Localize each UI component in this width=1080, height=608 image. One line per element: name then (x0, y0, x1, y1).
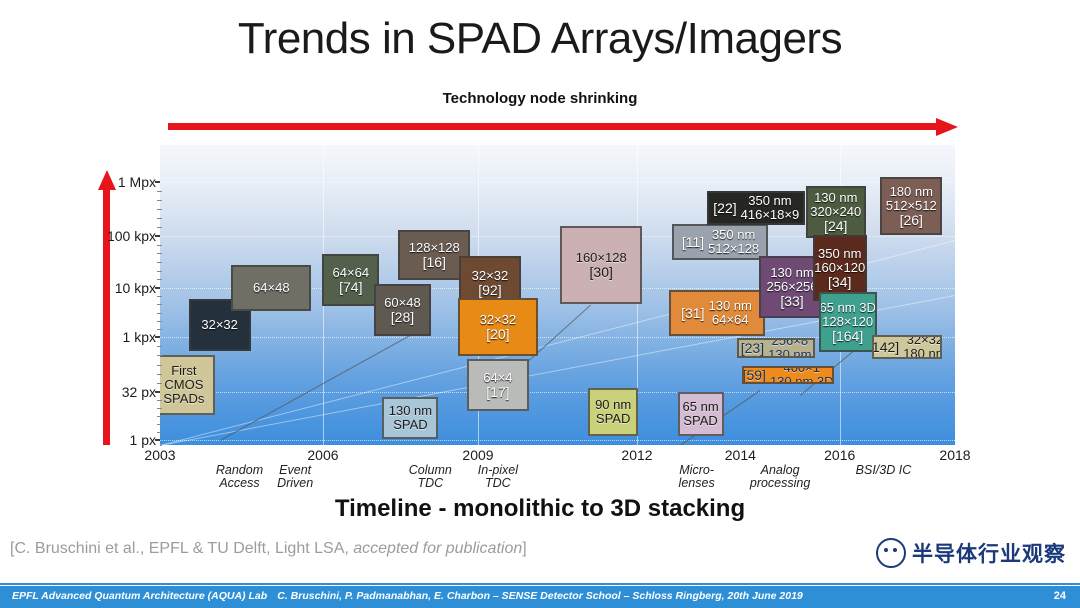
y-tick-minor (157, 321, 162, 322)
chip-label: [30] (590, 265, 613, 279)
chip-reference: [22] (713, 201, 736, 215)
chip-labels: 400×1130 nm 3D (770, 366, 834, 384)
x-annotation-1: EventDriven (277, 464, 313, 490)
chip-label: SPAD (596, 412, 630, 426)
y-tick-label-5: 1 px (130, 432, 156, 448)
chip-chip-11-350nm: [11]350 nm512×128 (672, 224, 768, 260)
x-tick-label-2006: 2006 (307, 447, 338, 463)
y-tick-minor (157, 408, 162, 409)
y-tick-minor (157, 253, 162, 254)
y-tick-minor (157, 374, 162, 375)
y-tick-minor (157, 279, 162, 280)
x-tick-label-2018: 2018 (939, 447, 970, 463)
x-annotation-6: BSI/3D IC (856, 464, 912, 477)
chip-label: 32×32 (201, 318, 238, 332)
chip-first-cmos-spads: FirstCMOSSPADs (160, 355, 215, 415)
x-annotation-2: ColumnTDC (409, 464, 452, 490)
footer-page-number: 24 (1054, 590, 1066, 602)
x-annotation-5: Analogprocessing (750, 464, 810, 490)
x-annotation-3: In-pixelTDC (478, 464, 518, 490)
chip-label: First (171, 364, 196, 378)
chip-chip-142-32x32: [142]32×32180 nm (872, 335, 942, 359)
y-tick-minor (157, 383, 162, 384)
chip-label: 60×48 (384, 296, 421, 310)
y-tick-minor (157, 346, 162, 347)
chip-chip-22-350nm: [22]350 nm416×18×9 (707, 191, 805, 225)
chip-label: 512×512 (886, 199, 937, 213)
chip-label: [20] (486, 327, 509, 341)
chip-labels: 350 nm512×128 (708, 228, 759, 256)
chip-label: 130 nm (770, 266, 813, 280)
chip-label: 64×4 (483, 371, 512, 385)
chip-label: 512×128 (708, 242, 759, 256)
y-tick-minor (157, 416, 162, 417)
chip-label: [33] (780, 294, 803, 308)
chip-label: 130 nm (708, 299, 751, 313)
footer-rule (0, 583, 1080, 585)
chip-labels: 130 nm64×64 (708, 299, 751, 327)
chip-label: 32×32 (472, 269, 509, 283)
y-tick-minor (157, 400, 162, 401)
chip-label: 180 nm (903, 347, 942, 359)
chip-chip-24-130nm: 130 nm320×240[24] (806, 186, 866, 238)
x-tick-label-2003: 2003 (144, 447, 175, 463)
chip-label: 160×120 (814, 261, 865, 275)
footer-center: C. Bruschini, P. Padmanabhan, E. Charbon… (277, 590, 803, 602)
chip-reference: [142] (872, 340, 899, 354)
subtitle-technology-node: Technology node shrinking (0, 90, 1080, 107)
chip-label: 180 nm (890, 185, 933, 199)
chip-chip-90nm-spad: 90 nmSPAD (588, 388, 638, 436)
y-tick-label-3: 1 kpx (123, 329, 156, 345)
chip-label: 320×240 (810, 205, 861, 219)
chip-label: 160×128 (576, 251, 627, 265)
arrow-shaft-vertical (103, 183, 110, 445)
chip-label: SPAD (683, 414, 717, 428)
y-tick-minor (157, 424, 162, 425)
y-tick-label-1: 100 kpx (107, 228, 156, 244)
chip-chip-60x48-28: 60×48[28] (374, 284, 431, 336)
chip-label: SPADs (163, 392, 204, 406)
gridline-1 Mpx (160, 182, 955, 184)
chip-label: [28] (391, 310, 414, 324)
chip-label: 130 nm (768, 348, 811, 358)
chip-label: [24] (824, 219, 847, 233)
footer-bar: EPFL Advanced Quantum Architecture (AQUA… (0, 586, 1080, 608)
chart-plot-area: FirstCMOSSPADs32×3264×4864×64[74]60×48[2… (160, 145, 955, 445)
y-tick-minor (157, 200, 162, 201)
y-tick-minor (157, 271, 162, 272)
timeline-caption: Timeline - monolithic to 3D stacking (0, 495, 1080, 523)
chip-label: 64×64 (333, 266, 370, 280)
chip-labels: 256×8130 nm (768, 338, 811, 358)
x-tick-label-2009: 2009 (462, 447, 493, 463)
chip-label: 64×64 (708, 313, 751, 327)
smiley-face-icon (876, 538, 906, 568)
chip-label: [17] (486, 385, 509, 399)
y-tick-label-0: 1 Mpx (118, 174, 156, 190)
x-axis-annotations: RandomAccessEventDrivenColumnTDCIn-pixel… (160, 464, 955, 498)
chip-label: 128×120 (822, 315, 873, 329)
chip-label: CMOS (164, 378, 203, 392)
caption-suffix: ] (522, 540, 526, 557)
page-title: Trends in SPAD Arrays/Imagers (0, 14, 1080, 64)
chip-reference: [23] (741, 341, 764, 355)
chip-label: [16] (423, 255, 446, 269)
chip-label: 130 nm 3D (770, 375, 834, 384)
y-tick-minor (157, 245, 162, 246)
chip-label: 65 nm (683, 400, 719, 414)
y-tick-minor (157, 304, 162, 305)
caption-prefix: [C. Bruschini et al., EPFL & TU Delft, L… (10, 540, 353, 557)
footer-left: EPFL Advanced Quantum Architecture (AQUA… (12, 590, 267, 602)
y-tick-minor (157, 432, 162, 433)
chip-label: [164] (832, 329, 863, 343)
y-tick-minor (157, 313, 162, 314)
chip-label: 65 nm 3D (819, 301, 875, 315)
chip-label: [34] (828, 275, 851, 289)
caption-italic: accepted for publication (353, 540, 522, 557)
y-tick-minor (157, 355, 162, 356)
y-tick-minor (157, 209, 162, 210)
chip-label: SPAD (393, 418, 427, 432)
gridline-32 px (160, 392, 955, 394)
chip-chip-164-65nm3d: 65 nm 3D128×120[164] (819, 292, 877, 352)
watermark: 半导体行业观察 (876, 538, 1066, 568)
x-tick-label-2016: 2016 (824, 447, 855, 463)
x-annotation-4: Micro-lenses (679, 464, 715, 490)
chip-label: [26] (900, 213, 923, 227)
chip-label: 130 nm (389, 404, 432, 418)
chip-label: 130 nm (814, 191, 857, 205)
y-tick-minor (157, 218, 162, 219)
reference-caption: [C. Bruschini et al., EPFL & TU Delft, L… (10, 540, 527, 558)
y-tick-minor (157, 296, 162, 297)
chip-label: 350 nm (741, 194, 800, 208)
chip-label: 256×256 (767, 280, 818, 294)
y-tick-label-2: 10 kpx (115, 280, 156, 296)
chip-labels: 350 nm416×18×9 (741, 194, 800, 222)
chip-chip-26-180nm: 180 nm512×512[26] (880, 177, 942, 235)
chip-label: 90 nm (595, 398, 631, 412)
chip-reference: [59] (743, 368, 766, 382)
chip-label: 350 nm (818, 247, 861, 261)
chip-label: 350 nm (708, 228, 759, 242)
chip-label: 64×48 (253, 281, 290, 295)
technology-shrink-arrow (168, 118, 958, 136)
y-tick-minor (157, 191, 162, 192)
x-tick-label-2014: 2014 (725, 447, 756, 463)
chip-chip-32x32-20: 32×32[20] (458, 298, 538, 356)
chip-chip-64x64-74: 64×64[74] (322, 254, 379, 306)
chip-label: 32×32 (480, 313, 517, 327)
chip-label: [74] (339, 280, 362, 294)
y-tick-minor (157, 365, 162, 366)
arrow-shaft (168, 123, 938, 130)
y-tick-minor (157, 262, 162, 263)
arrow-head (936, 118, 958, 136)
chip-chip-130nm-spad: 130 nmSPAD (382, 397, 438, 439)
watermark-text: 半导体行业观察 (912, 538, 1066, 568)
chip-label: [92] (478, 283, 501, 297)
chip-reference: [31] (681, 306, 704, 320)
y-tick-label-4: 32 px (122, 384, 156, 400)
arrow-head-up (98, 170, 116, 190)
x-tick-label-2012: 2012 (621, 447, 652, 463)
chip-chip-23-256x8: [23]256×8130 nm (737, 338, 815, 358)
chip-chip-59-400x1: [59]400×1130 nm 3D (742, 366, 834, 384)
slide-root: Trends in SPAD Arrays/Imagers Technology… (0, 0, 1080, 608)
chip-labels: 32×32180 nm (903, 335, 942, 359)
chip-reference: [11] (682, 235, 704, 249)
chip-chip-64x48: 64×48 (231, 265, 311, 311)
x-annotation-0: RandomAccess (216, 464, 263, 490)
y-tick-minor (157, 329, 162, 330)
y-tick-minor (157, 227, 162, 228)
chip-label: 128×128 (409, 241, 460, 255)
array-size-arrow (98, 170, 116, 445)
chip-chip-160x128-30: 160×128[30] (560, 226, 642, 304)
chip-chip-31-130nm: [31]130 nm64×64 (669, 290, 765, 336)
chip-label: 416×18×9 (741, 208, 800, 222)
gridline-1 px (160, 440, 955, 442)
chip-chip-65nm-spad: 65 nmSPAD (678, 392, 724, 436)
chip-chip-64x4-17: 64×4[17] (467, 359, 529, 411)
